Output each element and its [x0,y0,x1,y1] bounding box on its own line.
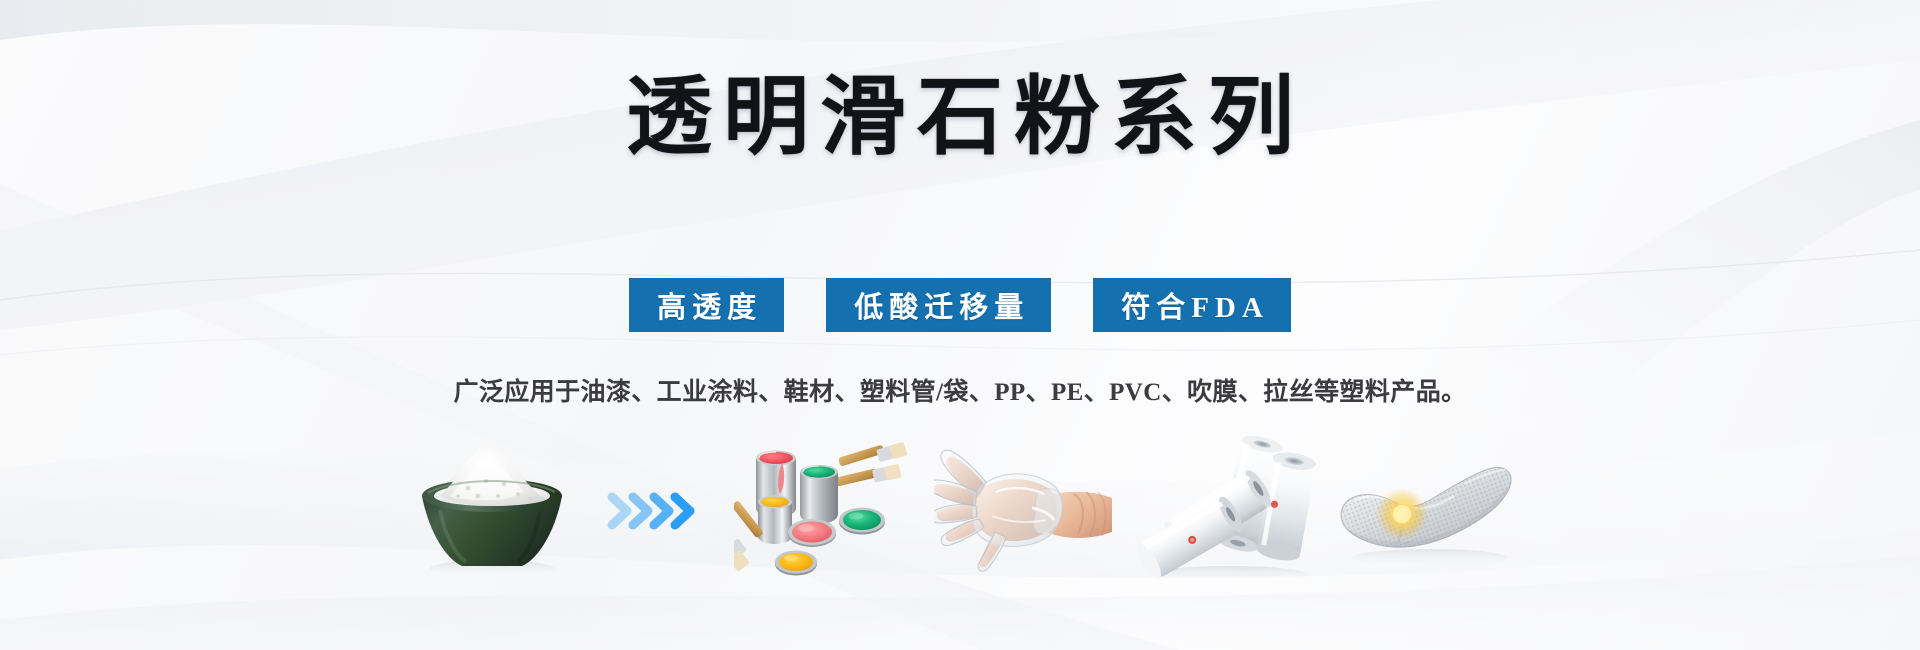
pe-glove-hand-image [934,436,1120,586]
badge-label: 低酸迁移量 [848,284,1029,326]
shoe-sole-image [1334,436,1520,586]
page-title: 透明滑石粉系列 [0,74,1920,160]
talc-powder-bowl-image [400,436,586,586]
subtitle-applications: 广泛应用于油漆、工业涂料、鞋材、塑料管/袋、PP、PE、PVC、吹膜、拉丝等塑料… [0,372,1920,408]
product-banner: 透明滑石粉系列 高透度 低酸迁移量 符合FDA 广泛应用于油漆、工业涂料、鞋材、… [0,0,1920,650]
badge-label: 符合FDA [1115,284,1269,326]
badge-low-acid-migration: 低酸迁移量 [826,278,1051,332]
badge-label: 高透度 [651,284,762,326]
chevron-right-arrows [600,436,720,586]
feature-badge-row: 高透度 低酸迁移量 符合FDA [0,278,1920,332]
plastic-film-rolls-image [1134,436,1320,586]
paint-cans-image [734,436,920,586]
badge-fda-compliant: 符合FDA [1093,278,1291,332]
product-image-strip [0,436,1920,586]
badge-high-transparency: 高透度 [629,278,784,332]
paint-brush-icon [838,442,907,467]
